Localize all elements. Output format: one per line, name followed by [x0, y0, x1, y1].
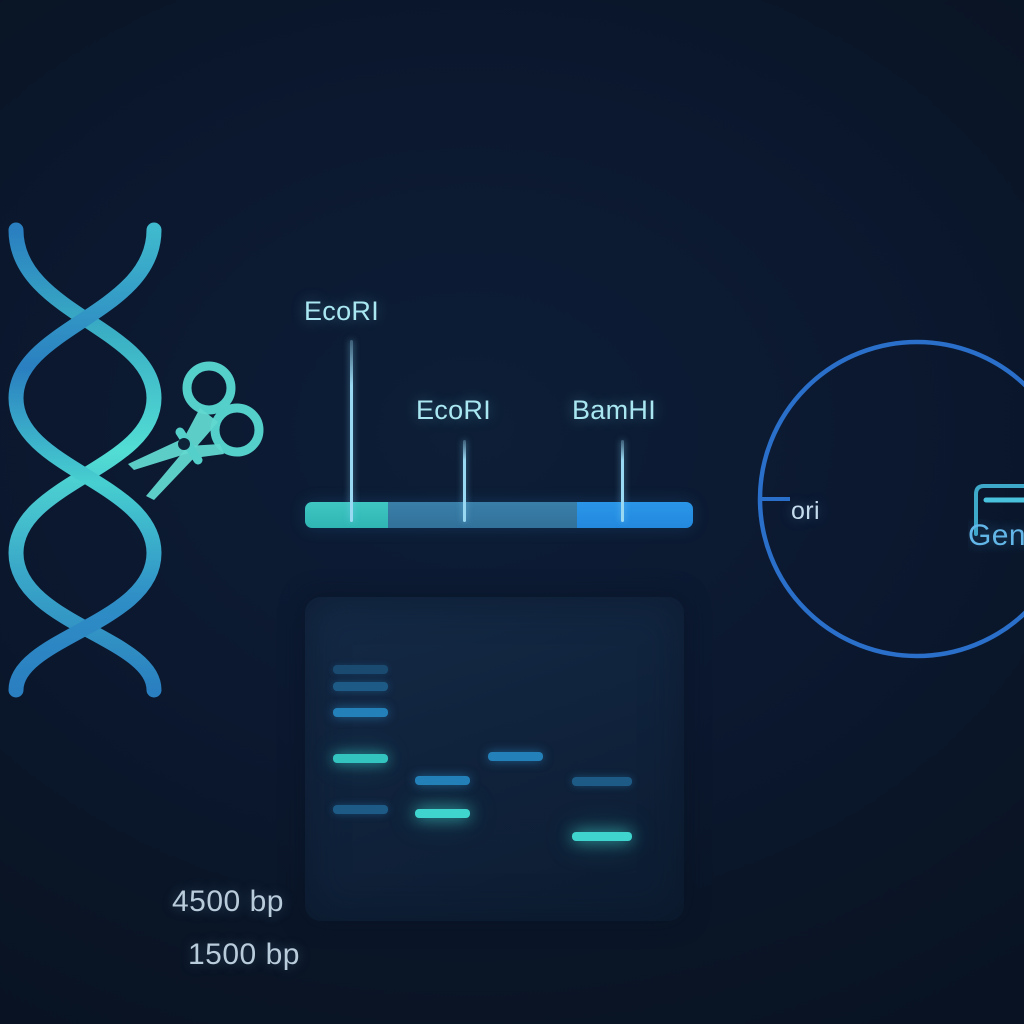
fragment-segment-left — [305, 502, 388, 528]
scissors-handle-lower — [215, 408, 259, 452]
gel-band — [415, 776, 470, 785]
cut-site-tick-ecori-1 — [350, 340, 353, 522]
agarose-gel-electrophoresis-panel[interactable] — [305, 597, 684, 921]
linear-dna-fragment-map[interactable] — [305, 502, 693, 528]
fragment-segment-middle — [388, 502, 576, 528]
gel-band — [572, 832, 632, 841]
scissors-pivot — [178, 438, 190, 450]
gel-band — [333, 805, 388, 814]
gel-lane-digest-a[interactable] — [415, 597, 470, 921]
enzyme-label-ecori-1[interactable]: EcoRI — [304, 296, 379, 327]
gel-band — [572, 777, 632, 786]
bp-label-4500: 4500 bp — [172, 885, 284, 919]
gel-lane-ladder[interactable] — [333, 597, 388, 921]
gel-band — [415, 809, 470, 818]
gel-band — [488, 752, 543, 761]
gel-band — [333, 754, 388, 763]
gel-band — [333, 708, 388, 717]
gel-band — [333, 665, 388, 674]
gel-band — [333, 682, 388, 691]
enzyme-label-ecori-2[interactable]: EcoRI — [416, 395, 491, 426]
gel-lane-digest-c[interactable] — [572, 597, 632, 921]
enzyme-label-bamhi[interactable]: BamHI — [572, 395, 656, 426]
fragment-segment-right — [577, 502, 693, 528]
scissors-blade-upper — [128, 408, 218, 470]
illustration-canvas: EcoRI EcoRI BamHI 4500 bp 1500 bp — [0, 0, 1024, 1024]
plasmid-feature-label-ori[interactable]: ori — [791, 497, 820, 526]
bp-label-1500: 1500 bp — [188, 938, 300, 972]
gel-lane-digest-b[interactable] — [488, 597, 543, 921]
cut-site-tick-bamhi — [621, 440, 624, 522]
plasmid-feature-label-gene[interactable]: Gene — [968, 519, 1024, 553]
cut-site-tick-ecori-2 — [463, 440, 466, 522]
scissors-icon — [88, 360, 268, 515]
scissors-handle-upper — [187, 366, 231, 410]
